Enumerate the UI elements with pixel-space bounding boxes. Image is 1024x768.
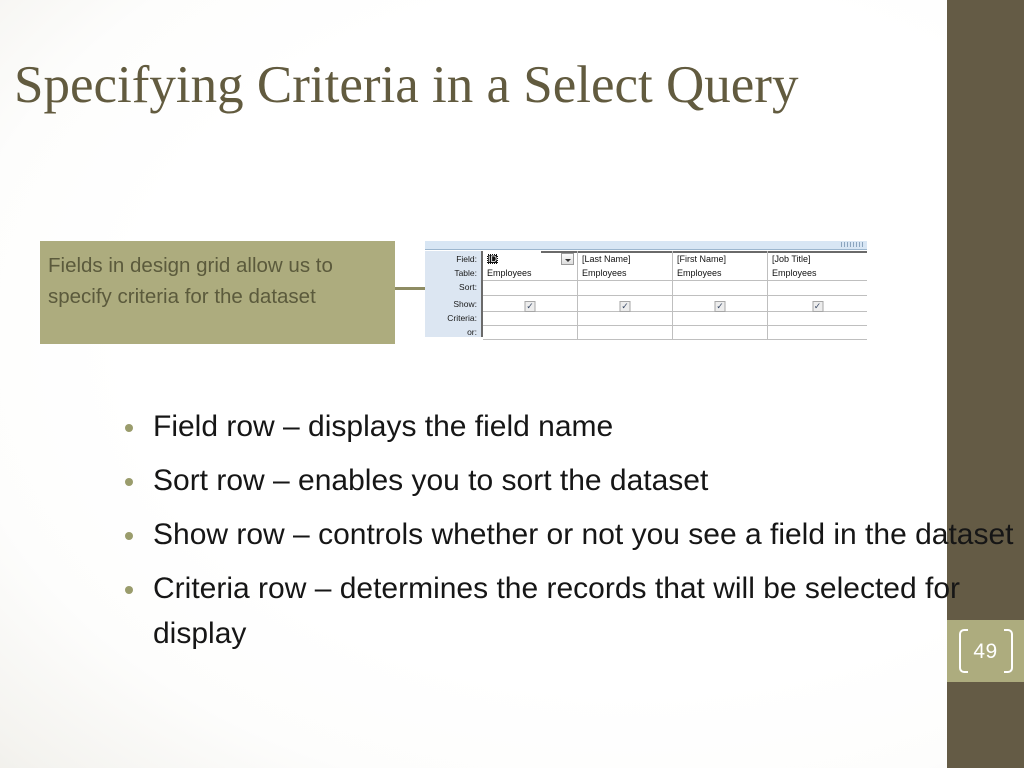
callout-box: Fields in design grid allow us to specif… <box>40 241 395 344</box>
show-checkbox-first-name[interactable]: ✓ <box>715 301 726 312</box>
grid-body: Field: Table: Sort: Show: Criteria: or: … <box>425 251 867 346</box>
grid-resize-grip-icon[interactable] <box>841 242 865 247</box>
table-cell-id: Employees <box>487 268 532 278</box>
table-cell-last-name: Employees <box>582 268 627 278</box>
list-item: Field row – displays the field name <box>118 404 1018 449</box>
grid-column-first-name[interactable]: [First Name] Employees ✓ <box>673 251 768 339</box>
callout-text: Fields in design grid allow us to specif… <box>48 250 383 312</box>
grid-row-header-panel: Field: Table: Sort: Show: Criteria: or: <box>425 251 483 337</box>
show-checkbox-job-title[interactable]: ✓ <box>812 301 823 312</box>
list-item: Sort row – enables you to sort the datas… <box>118 458 1018 503</box>
list-item: Criteria row – determines the records th… <box>118 566 1018 656</box>
bullet-list: Field row – displays the field name Sort… <box>118 404 1018 665</box>
row-label-field: Field: <box>456 254 477 265</box>
table-cell-job-title: Employees <box>772 268 817 278</box>
show-checkbox-id[interactable]: ✓ <box>525 301 536 312</box>
grid-column-job-title[interactable]: [Job Title] Employees ✓ <box>768 251 867 339</box>
field-cell-first-name[interactable]: [First Name] <box>677 254 726 264</box>
row-label-criteria: Criteria: <box>447 313 477 324</box>
row-label-sort: Sort: <box>459 282 477 293</box>
grid-columns-area: ID Employees ✓ [Last Name] Employees ✓ [… <box>483 251 867 346</box>
grid-column-last-name[interactable]: [Last Name] Employees ✓ <box>578 251 673 339</box>
chevron-down-icon[interactable] <box>561 253 574 265</box>
page-title: Specifying Criteria in a Select Query <box>14 46 814 125</box>
row-label-show: Show: <box>453 299 477 310</box>
field-cell-job-title[interactable]: [Job Title] <box>772 254 811 264</box>
list-item: Show row – controls whether or not you s… <box>118 512 1018 557</box>
grid-bottom-border <box>483 339 867 340</box>
grid-top-bar <box>425 241 867 250</box>
row-label-table: Table: <box>454 268 477 279</box>
row-label-or: or: <box>467 327 477 338</box>
field-cell-last-name[interactable]: [Last Name] <box>582 254 631 264</box>
grid-column-id[interactable]: ID Employees ✓ <box>483 251 578 339</box>
query-design-grid-image: Field: Table: Sort: Show: Criteria: or: … <box>425 241 867 346</box>
field-cell-id[interactable]: ID <box>487 254 498 264</box>
slide-canvas: 49 Specifying Criteria in a Select Query… <box>0 0 1024 768</box>
show-checkbox-last-name[interactable]: ✓ <box>620 301 631 312</box>
table-cell-first-name: Employees <box>677 268 722 278</box>
